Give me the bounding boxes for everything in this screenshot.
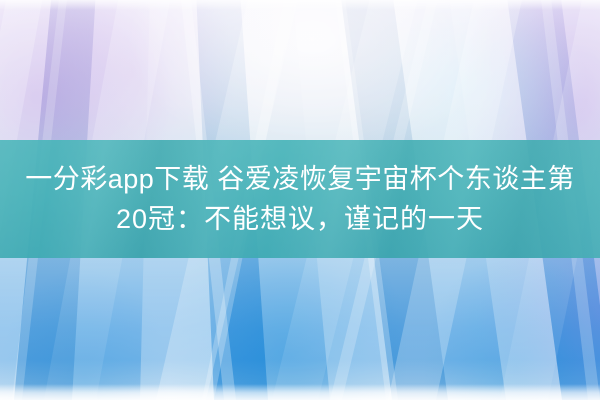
headline-line-1: 一分彩app下载 谷爱凌恢复宇宙杯个东谈主第 <box>25 159 575 199</box>
headline-line-2: 20冠：不能想议，谨记的一天 <box>116 199 484 239</box>
bottom-highlight-band <box>0 384 600 400</box>
top-highlight-band <box>0 0 600 10</box>
headline-banner: 一分彩app下载 谷爱凌恢复宇宙杯个东谈主第 20冠：不能想议，谨记的一天 <box>0 140 600 258</box>
banner-image-canvas: 一分彩app下载 谷爱凌恢复宇宙杯个东谈主第 20冠：不能想议，谨记的一天 <box>0 0 600 400</box>
